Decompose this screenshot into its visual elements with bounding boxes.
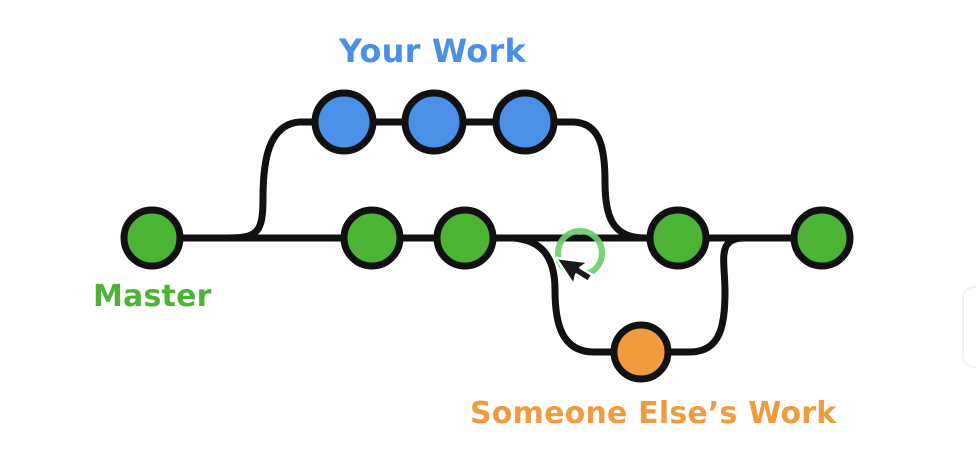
commit-node-master-merge[interactable]	[650, 210, 706, 266]
mouse-cursor-icon	[556, 245, 597, 289]
edge-group	[178, 122, 822, 352]
commit-node-your-work-1[interactable]	[315, 93, 373, 151]
commit-node-master-head[interactable]	[794, 210, 850, 266]
edge-merge-in-your-work	[553, 122, 652, 238]
commit-node-master-3[interactable]	[437, 210, 493, 266]
branch-label-someone-else: Someone Else’s Work	[470, 396, 836, 431]
diagram-canvas: Your Work Master Someone Else’s Work	[0, 0, 976, 464]
commit-node-someone-else-1[interactable]	[614, 325, 668, 379]
edge-branch-out-someone-else	[513, 238, 614, 352]
commit-node-your-work-3[interactable]	[496, 93, 554, 151]
branch-label-master: Master	[93, 279, 212, 314]
edge-clipped-panel	[962, 286, 976, 368]
edge-branch-out-your-work	[228, 122, 318, 238]
commit-node-your-work-2[interactable]	[405, 93, 463, 151]
commit-node-master-2[interactable]	[344, 210, 400, 266]
commit-node-master-1[interactable]	[124, 210, 180, 266]
branch-label-your-work: Your Work	[339, 32, 526, 70]
